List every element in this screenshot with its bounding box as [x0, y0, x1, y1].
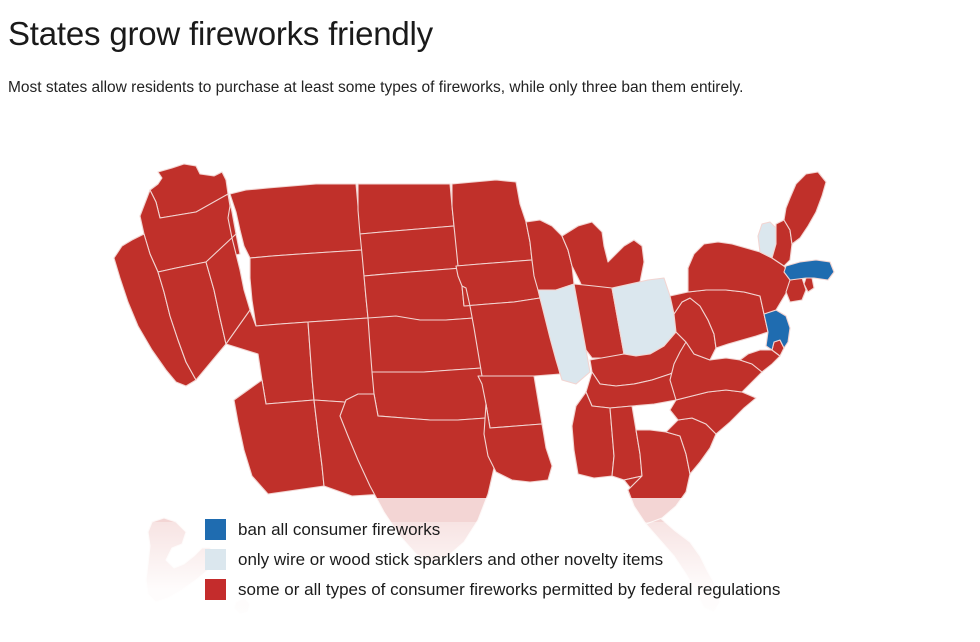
state-me: [784, 172, 826, 244]
page-subtitle: Most states allow residents to purchase …: [8, 74, 938, 101]
state-nd: [358, 184, 454, 234]
legend-label-ban: ban all consumer fireworks: [238, 519, 440, 540]
legend-item-permitted: some or all types of consumer fireworks …: [205, 574, 980, 604]
header: States grow fireworks friendly Most stat…: [8, 14, 958, 101]
page-title: States grow fireworks friendly: [8, 14, 958, 54]
state-ma: [784, 260, 834, 280]
state-mt: [230, 184, 362, 258]
legend-item-sparklers: only wire or wood stick sparklers and ot…: [205, 544, 980, 574]
state-mn: [452, 180, 532, 266]
legend-swatch-permitted-icon: [205, 579, 226, 600]
state-ks: [368, 316, 482, 372]
state-ct: [786, 278, 806, 302]
state-al: [610, 406, 642, 480]
legend-item-ban: ban all consumer fireworks: [205, 514, 980, 544]
state-ak: [146, 518, 214, 602]
legend-swatch-ban-icon: [205, 519, 226, 540]
legend-label-sparklers: only wire or wood stick sparklers and ot…: [238, 549, 663, 570]
map-legend: ban all consumer fireworks only wire or …: [205, 514, 980, 604]
legend-swatch-sparklers-icon: [205, 549, 226, 570]
state-sd: [360, 226, 462, 276]
legend-label-permitted: some or all types of consumer fireworks …: [238, 579, 780, 600]
state-wy: [250, 250, 368, 326]
state-va: [670, 342, 762, 400]
infographic-page: States grow fireworks friendly Most stat…: [0, 0, 980, 642]
